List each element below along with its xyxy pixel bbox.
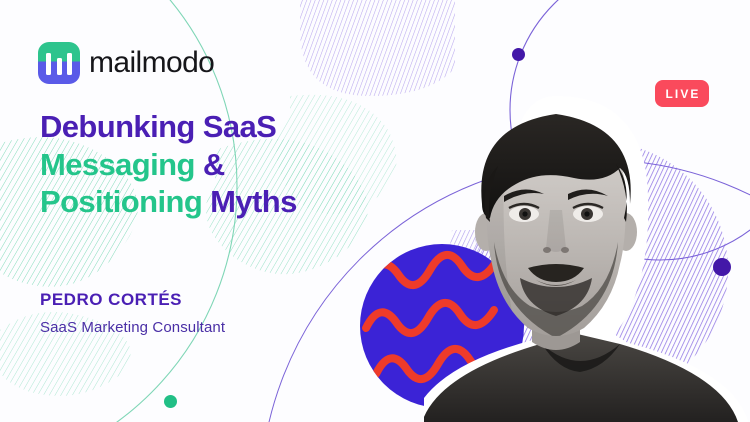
headline-line-2: Messaging & bbox=[40, 146, 440, 184]
speaker-info: PEDRO CORTÉS SaaS Marketing Consultant bbox=[40, 290, 225, 337]
purple-dot-right bbox=[713, 258, 731, 276]
purple-hatch-blob-top bbox=[300, 0, 455, 96]
page-title: Debunking SaaS Messaging & Positioning M… bbox=[40, 108, 440, 221]
live-badge-label: LIVE bbox=[663, 88, 700, 100]
purple-dot-top bbox=[512, 48, 525, 61]
headline-line-2-green: Messaging bbox=[40, 147, 195, 182]
mailmodo-logo-icon bbox=[38, 42, 80, 84]
speaker-role: SaaS Marketing Consultant bbox=[40, 319, 225, 337]
headline-line-2-purple: & bbox=[195, 147, 225, 182]
green-dot-bottom bbox=[164, 395, 177, 408]
speaker-photo bbox=[424, 92, 750, 422]
headline-line-3: Positioning Myths bbox=[40, 183, 440, 221]
mailmodo-logo[interactable]: mailmodo bbox=[38, 42, 214, 84]
headline-line-3-green: Positioning bbox=[40, 184, 202, 219]
speaker-torso bbox=[424, 328, 738, 422]
mailmodo-wordmark: mailmodo bbox=[89, 48, 214, 78]
webinar-promo-canvas: mailmodo LIVE Debunking SaaS Messaging &… bbox=[0, 0, 750, 422]
live-badge: LIVE bbox=[655, 80, 709, 107]
speaker-name: PEDRO CORTÉS bbox=[40, 290, 225, 310]
headline-line-1-text: Debunking SaaS bbox=[40, 109, 276, 144]
headline-line-1: Debunking SaaS bbox=[40, 108, 440, 146]
headline-line-3-purple: Myths bbox=[202, 184, 297, 219]
